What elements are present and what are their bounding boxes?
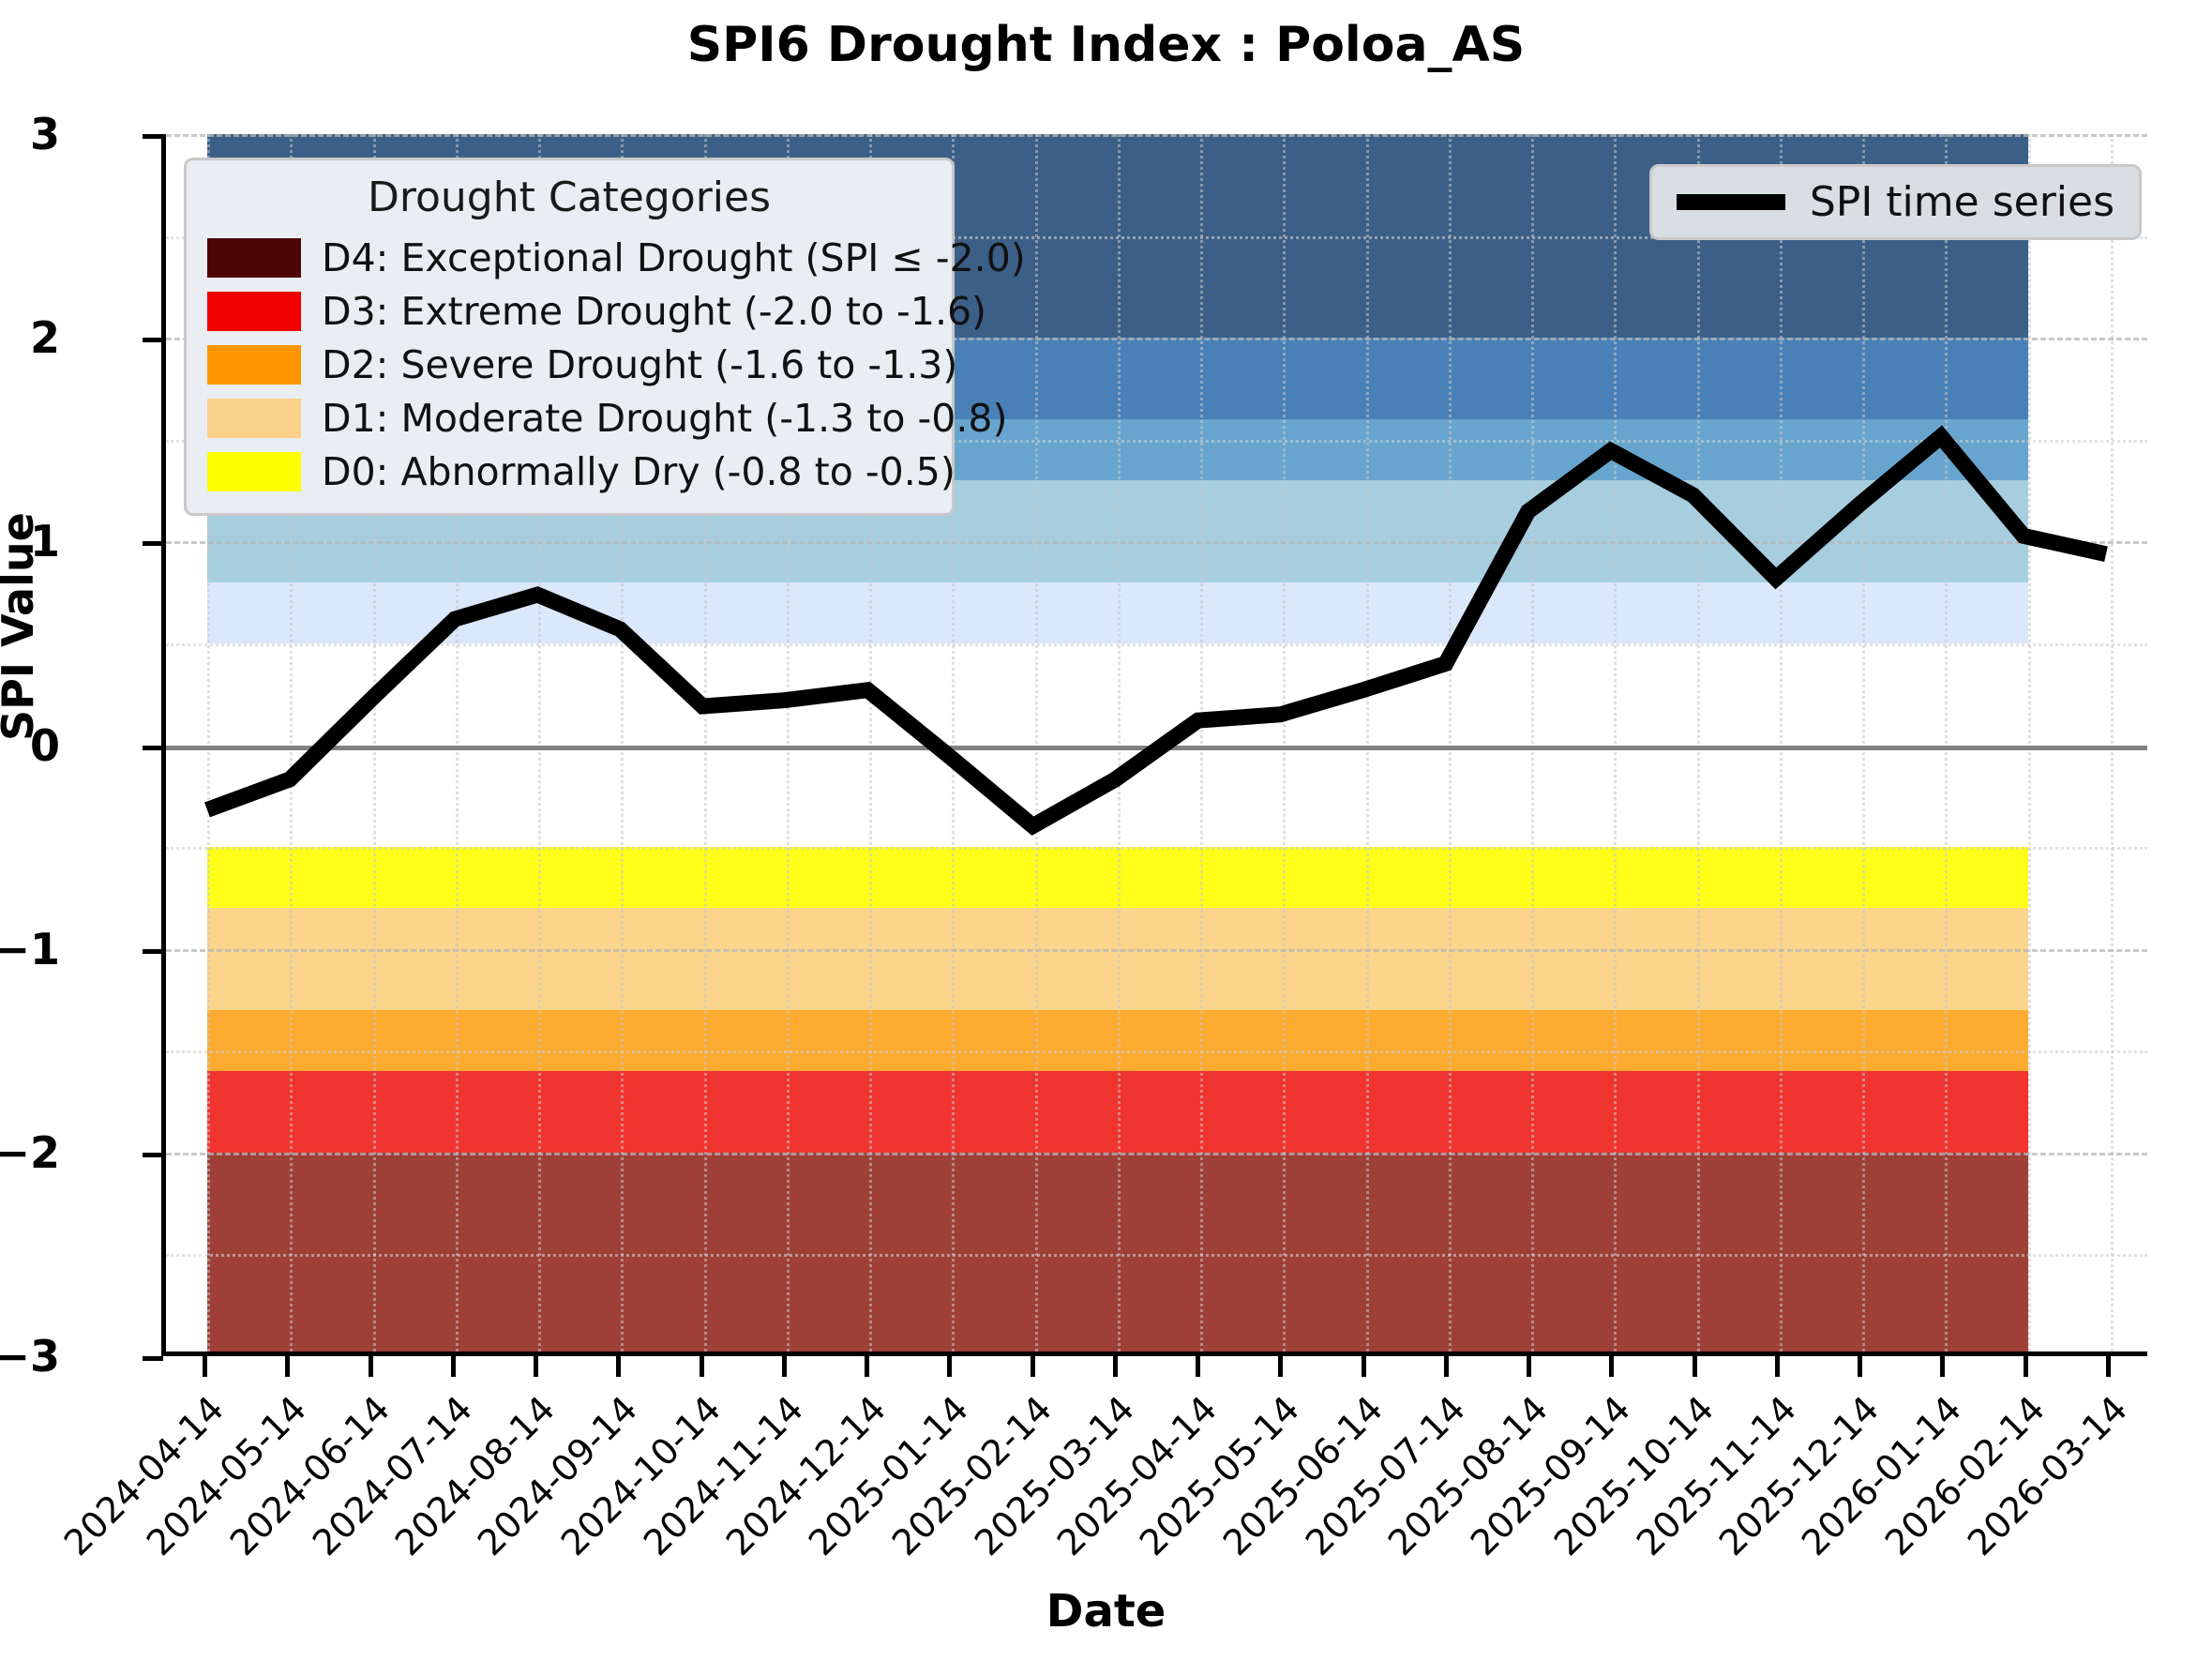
x-tick-mark bbox=[947, 1356, 952, 1377]
x-tick-mark bbox=[700, 1356, 704, 1377]
y-tick-mark bbox=[143, 746, 163, 750]
x-axis-label: Date bbox=[0, 1585, 2212, 1638]
legend-item-label: D0: Abnormally Dry (-0.8 to -0.5) bbox=[322, 449, 956, 494]
x-tick-mark bbox=[2106, 1356, 2111, 1377]
x-tick-mark bbox=[451, 1356, 456, 1377]
x-tick-mark bbox=[1693, 1356, 1697, 1377]
legend-swatch-icon bbox=[207, 399, 301, 438]
x-tick-mark bbox=[285, 1356, 290, 1377]
x-tick-mark bbox=[1527, 1356, 1531, 1377]
legend-swatch-icon bbox=[207, 452, 301, 491]
y-tick-mark bbox=[143, 1153, 163, 1157]
x-tick-mark bbox=[534, 1356, 538, 1377]
x-tick-mark bbox=[1196, 1356, 1200, 1377]
y-tick-label: 1 bbox=[0, 516, 60, 566]
legend-title: Drought Categories bbox=[207, 174, 931, 221]
x-tick-mark bbox=[1031, 1356, 1035, 1377]
x-tick-mark bbox=[1609, 1356, 1614, 1377]
y-tick-mark bbox=[143, 338, 163, 342]
drought-categories-legend[interactable]: Drought Categories D4: Exceptional Droug… bbox=[184, 158, 955, 516]
series-legend-line-icon bbox=[1677, 194, 1785, 210]
legend-item[interactable]: D3: Extreme Drought (-2.0 to -1.6) bbox=[207, 284, 931, 338]
legend-swatch-icon bbox=[207, 238, 301, 278]
legend-item-label: D4: Exceptional Drought (SPI ≤ -2.0) bbox=[322, 235, 1026, 280]
legend-item[interactable]: D1: Moderate Drought (-1.3 to -0.8) bbox=[207, 391, 931, 445]
legend-item[interactable]: D2: Severe Drought (-1.6 to -1.3) bbox=[207, 338, 931, 391]
y-tick-label: −3 bbox=[0, 1331, 60, 1382]
chart-title: SPI6 Drought Index : Poloa_AS bbox=[0, 17, 2212, 73]
legend-item-label: D3: Extreme Drought (-2.0 to -1.6) bbox=[322, 289, 986, 334]
x-tick-mark bbox=[1113, 1356, 1118, 1377]
x-tick-mark bbox=[369, 1356, 373, 1377]
x-tick-mark bbox=[203, 1356, 207, 1377]
x-tick-mark bbox=[1444, 1356, 1449, 1377]
series-legend[interactable]: SPI time series bbox=[1649, 164, 2142, 240]
legend-item[interactable]: D4: Exceptional Drought (SPI ≤ -2.0) bbox=[207, 231, 931, 284]
y-tick-label: −1 bbox=[0, 924, 60, 974]
x-tick-mark bbox=[1362, 1356, 1366, 1377]
y-tick-mark bbox=[143, 949, 163, 954]
legend-item-label: D2: Severe Drought (-1.6 to -1.3) bbox=[322, 342, 957, 387]
x-tick-mark bbox=[865, 1356, 869, 1377]
x-tick-mark bbox=[2024, 1356, 2028, 1377]
figure: SPI6 Drought Index : Poloa_AS SPI Value … bbox=[0, 0, 2212, 1661]
series-legend-label: SPI time series bbox=[1810, 178, 2114, 226]
x-tick-mark bbox=[1940, 1356, 1945, 1377]
legend-item[interactable]: D0: Abnormally Dry (-0.8 to -0.5) bbox=[207, 445, 931, 498]
y-tick-mark bbox=[143, 1356, 163, 1361]
y-tick-label: 2 bbox=[0, 312, 60, 363]
y-tick-label: 0 bbox=[0, 720, 60, 771]
legend-swatch-icon bbox=[207, 345, 301, 385]
y-tick-mark bbox=[143, 134, 163, 139]
x-tick-mark bbox=[1278, 1356, 1283, 1377]
x-tick-mark bbox=[616, 1356, 621, 1377]
y-tick-label: 3 bbox=[0, 109, 60, 159]
x-tick-mark bbox=[1858, 1356, 1862, 1377]
legend-item-label: D1: Moderate Drought (-1.3 to -0.8) bbox=[322, 396, 1007, 441]
x-tick-mark bbox=[782, 1356, 787, 1377]
x-tick-mark bbox=[1775, 1356, 1780, 1377]
y-tick-mark bbox=[143, 541, 163, 546]
y-tick-label: −2 bbox=[0, 1127, 60, 1178]
legend-swatch-icon bbox=[207, 292, 301, 331]
